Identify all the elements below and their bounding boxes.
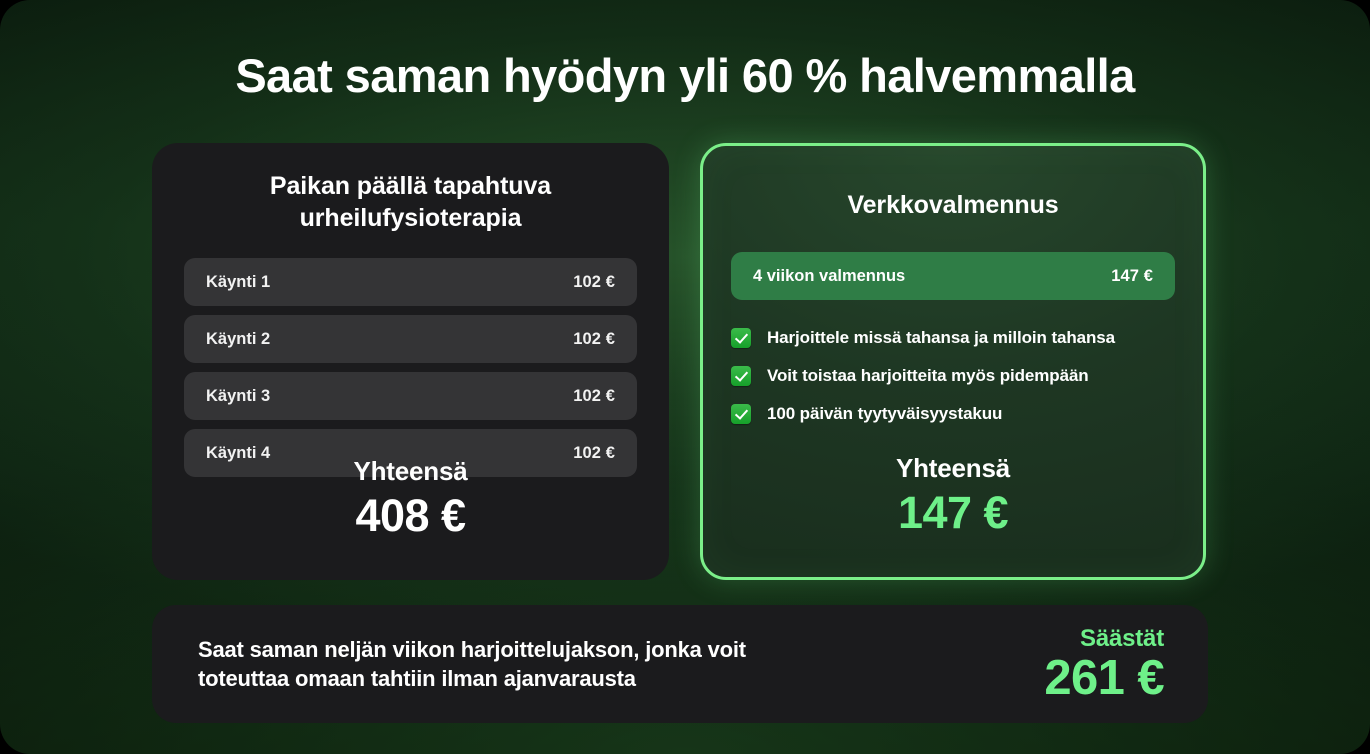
- row-label: Käynti 1: [206, 273, 270, 292]
- table-row: Käynti 2 102 €: [184, 315, 637, 363]
- card-onsite-physiotherapy: Paikan päällä tapahtuva urheilufysiotera…: [152, 143, 669, 580]
- right-card-rows: 4 viikon valmennus 147 €: [731, 252, 1175, 300]
- table-row: Käynti 1 102 €: [184, 258, 637, 306]
- table-row: 4 viikon valmennus 147 €: [731, 252, 1175, 300]
- feature-label: 100 päivän tyytyväisyystakuu: [767, 404, 1002, 424]
- check-icon: [731, 366, 751, 386]
- right-card-total: Yhteensä 147 €: [703, 453, 1203, 539]
- total-label: Yhteensä: [703, 453, 1203, 484]
- row-value: 147 €: [1111, 267, 1153, 286]
- check-icon: [731, 328, 751, 348]
- total-value: 147 €: [703, 487, 1203, 539]
- card-online-coaching: Verkkovalmennus 4 viikon valmennus 147 €…: [700, 143, 1206, 580]
- list-item: Harjoittele missä tahansa ja milloin tah…: [731, 328, 1175, 348]
- right-card-title: Verkkovalmennus: [743, 189, 1163, 221]
- savings-block: Säästät 261 €: [1044, 625, 1164, 704]
- row-label: Käynti 3: [206, 387, 270, 406]
- row-label: Käynti 2: [206, 330, 270, 349]
- row-value: 102 €: [573, 387, 615, 406]
- left-card-title: Paikan päällä tapahtuva urheilufysiotera…: [198, 170, 623, 234]
- check-icon: [731, 404, 751, 424]
- comparison-infographic: Saat saman hyödyn yli 60 % halvemmalla P…: [0, 0, 1370, 754]
- row-value: 102 €: [573, 273, 615, 292]
- table-row: Käynti 3 102 €: [184, 372, 637, 420]
- page-title: Saat saman hyödyn yli 60 % halvemmalla: [0, 50, 1370, 103]
- total-value: 408 €: [152, 490, 669, 542]
- feature-label: Harjoittele missä tahansa ja milloin tah…: [767, 328, 1115, 348]
- feature-label: Voit toistaa harjoitteita myös pidempään: [767, 366, 1089, 386]
- row-label: 4 viikon valmennus: [753, 267, 905, 286]
- left-card-rows: Käynti 1 102 € Käynti 2 102 € Käynti 3 1…: [184, 258, 637, 477]
- total-label: Yhteensä: [152, 456, 669, 487]
- list-item: 100 päivän tyytyväisyystakuu: [731, 404, 1175, 424]
- left-card-total: Yhteensä 408 €: [152, 456, 669, 542]
- row-value: 102 €: [573, 330, 615, 349]
- savings-value: 261 €: [1044, 654, 1164, 704]
- list-item: Voit toistaa harjoitteita myös pidempään: [731, 366, 1175, 386]
- feature-list: Harjoittele missä tahansa ja milloin tah…: [731, 328, 1175, 424]
- savings-label: Säästät: [1044, 625, 1164, 653]
- summary-text: Saat saman neljän viikon harjoittelujaks…: [198, 635, 798, 693]
- summary-bar: Saat saman neljän viikon harjoittelujaks…: [152, 605, 1208, 723]
